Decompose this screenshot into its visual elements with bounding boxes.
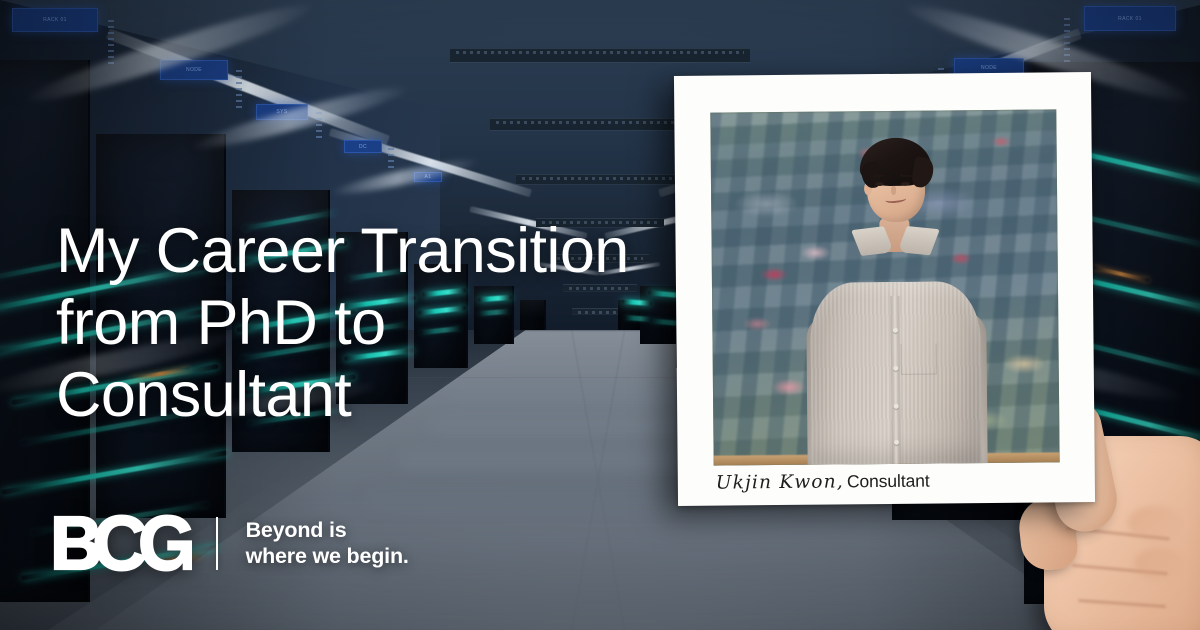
shirt-button bbox=[893, 366, 898, 371]
rack-label-text: RACK 01 bbox=[1085, 7, 1175, 30]
hand-knuckle bbox=[1128, 506, 1182, 540]
rack-label-plate: RACK 01 bbox=[12, 8, 98, 32]
rack-indicator-dots bbox=[388, 148, 394, 172]
hand-knuckle bbox=[1134, 548, 1184, 580]
brand-tagline: Beyond is where we begin. bbox=[246, 517, 409, 570]
person-figure bbox=[809, 213, 981, 465]
shirt-button bbox=[894, 440, 899, 445]
nose bbox=[891, 186, 896, 195]
shirt bbox=[810, 281, 982, 465]
bcg-logo-icon bbox=[52, 513, 192, 573]
headline-line-2: from PhD to bbox=[56, 288, 676, 360]
brand-lockup: Beyond is where we begin. bbox=[52, 513, 409, 573]
logo-divider bbox=[216, 517, 218, 570]
headline-line-1: My Career Transition bbox=[56, 216, 676, 288]
page-title: My Career Transition from PhD to Consult… bbox=[56, 216, 676, 431]
tagline-line-1: Beyond is bbox=[246, 517, 409, 543]
rack-label-text: DC bbox=[345, 141, 381, 152]
rack-label-text: RACK 01 bbox=[13, 9, 97, 31]
rack-label-plate: RACK 01 bbox=[1084, 6, 1176, 31]
caption-role: Consultant bbox=[847, 471, 930, 493]
photo-caption: Ukjin Kwon, Consultant bbox=[716, 471, 930, 494]
social-card: RACK 01 NODE SYS DC A1 bbox=[0, 0, 1200, 630]
portrait-photo bbox=[710, 109, 1059, 465]
headline-line-3: Consultant bbox=[56, 360, 676, 432]
rack-indicator-dots bbox=[236, 70, 242, 108]
caption-name: Ukjin Kwon, bbox=[716, 471, 844, 493]
shirt-button bbox=[894, 404, 899, 409]
shirt-button bbox=[893, 328, 898, 333]
rack-sheen bbox=[330, 155, 480, 200]
tagline-line-2: where we begin. bbox=[246, 543, 409, 569]
rack-label-plate: DC bbox=[344, 140, 382, 153]
polaroid-photo-icon: Ukjin Kwon, Consultant bbox=[674, 72, 1095, 506]
